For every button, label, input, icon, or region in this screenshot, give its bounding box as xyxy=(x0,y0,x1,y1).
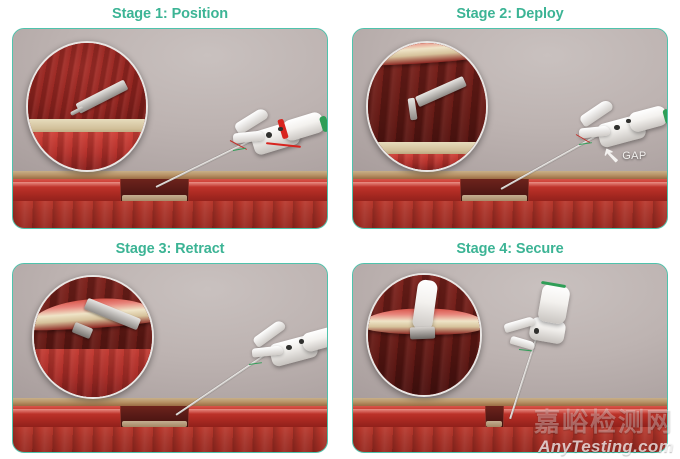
stage-title-4: Stage 4: Secure xyxy=(352,238,668,260)
scene-1 xyxy=(13,29,327,228)
inset-muscle-layer xyxy=(368,154,486,171)
gap-callout: GAP xyxy=(604,148,646,163)
instrument-button xyxy=(534,328,540,334)
stage-title-2: Stage 2: Deploy xyxy=(352,3,668,25)
stage-title-1: Stage 1: Position xyxy=(12,3,328,25)
inset-muscle-layer xyxy=(34,349,152,397)
stage-title-3: Stage 3: Retract xyxy=(12,238,328,260)
scene-3 xyxy=(13,264,327,452)
magnifier-inset-2 xyxy=(366,41,488,172)
gap-label: GAP xyxy=(622,150,646,162)
inset-secured-anchor xyxy=(410,327,435,340)
instrument-barrel xyxy=(627,104,668,133)
stage-grid: Stage 1: Position xyxy=(0,0,680,459)
stage-cell-3: Stage 3: Retract xyxy=(0,235,340,459)
stage-panel-4 xyxy=(352,263,668,453)
stage-panel-1 xyxy=(12,28,328,229)
stage-cell-1: Stage 1: Position xyxy=(0,0,340,235)
inset-muscle-layer xyxy=(28,132,146,170)
arrow-up-left-icon xyxy=(604,148,619,163)
magnifier-inset-3 xyxy=(32,275,154,399)
needle-shaft xyxy=(176,350,273,416)
stage-cell-2: Stage 2: Deploy xyxy=(340,0,680,235)
magnifier-inset-4 xyxy=(366,273,482,397)
magnifier-inset-1 xyxy=(26,41,148,172)
instrument-button-2 xyxy=(299,339,304,344)
instrument-barrel xyxy=(537,283,571,325)
stage-panel-3 xyxy=(12,263,328,453)
figure-root: Stage 1: Position xyxy=(0,0,680,459)
stage-panel-2: GAP xyxy=(352,28,668,229)
scene-4 xyxy=(353,264,667,452)
instrument-barrel xyxy=(300,326,328,353)
instrument-suture-wire-2 xyxy=(233,148,246,151)
stage-cell-4: Stage 4: Secure xyxy=(340,235,680,459)
scene-2: GAP xyxy=(353,29,667,228)
